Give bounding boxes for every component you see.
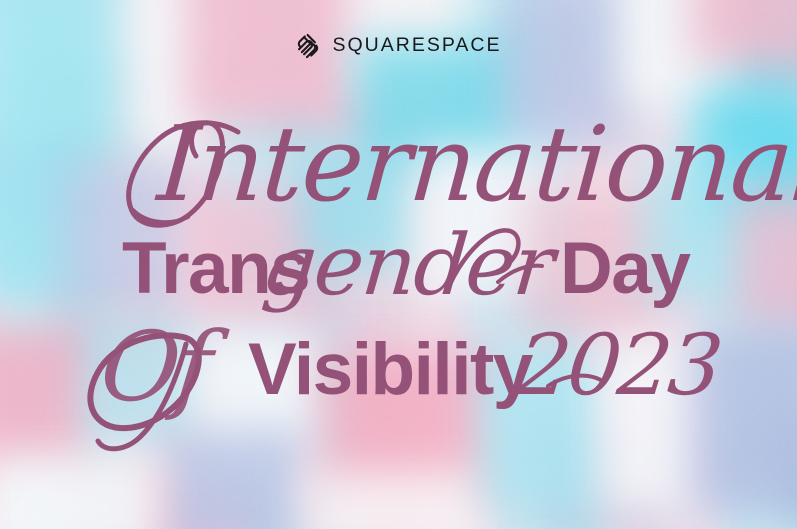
tile-cyan-8 [480, 360, 610, 510]
poster-canvas: SQUARESPACE .sc { font-family:"DejaVu Se… [0, 0, 797, 529]
tile-white-8 [0, 455, 160, 529]
brand-logo[interactable]: SQUARESPACE [0, 33, 797, 59]
tile-pink-1 [185, 0, 365, 125]
background-tiles [0, 0, 797, 529]
tile-violet-3 [160, 430, 310, 529]
tile-pink-5 [735, 190, 797, 330]
tile-cyan-1 [0, 0, 130, 160]
squarespace-logo-icon [295, 33, 321, 59]
tile-violet-4 [690, 330, 797, 510]
brand-wordmark: SQUARESPACE [332, 36, 501, 56]
tile-white-6 [300, 470, 490, 529]
tile-violet-1 [505, 0, 635, 145]
tile-violet-2 [60, 165, 190, 315]
tile-cyan-5 [300, 150, 420, 270]
